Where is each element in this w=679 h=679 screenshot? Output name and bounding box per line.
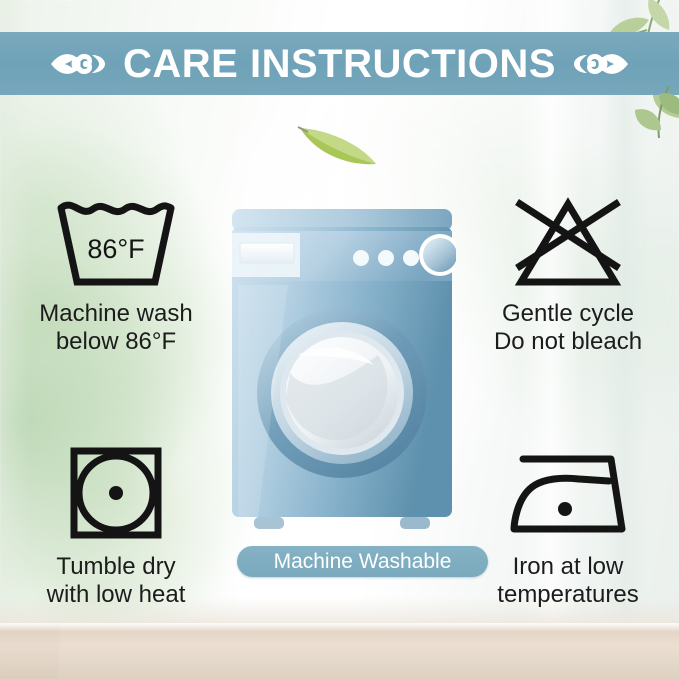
floating-leaf-icon (296, 118, 382, 172)
table-edge-highlight (0, 623, 679, 631)
fleur-de-lis-icon-left (49, 43, 107, 85)
wash-tub-icon: 86°F (6, 190, 226, 294)
badge-label: Machine Washable (274, 551, 452, 572)
care-item-do-not-bleach: Gentle cycle Do not bleach (458, 190, 678, 357)
care-item-iron: Iron at low temperatures (458, 443, 678, 610)
tumble-dry-square-circle-icon (6, 443, 226, 547)
care-label-do-not-bleach: Gentle cycle Do not bleach (458, 300, 678, 357)
washing-machine-illustration (228, 205, 456, 535)
iron-icon (458, 443, 678, 547)
care-label-machine-wash: Machine wash below 86°F (6, 300, 226, 357)
page-title: CARE INSTRUCTIONS (123, 44, 556, 84)
care-instructions-infographic: CARE INSTRUCTIONS (0, 0, 679, 679)
header-banner: CARE INSTRUCTIONS (0, 32, 679, 95)
care-label-tumble-dry: Tumble dry with low heat (6, 553, 226, 610)
triangle-crossed-out-icon (458, 190, 678, 294)
care-label-iron: Iron at low temperatures (458, 553, 678, 610)
wooden-table-surface (0, 623, 679, 679)
indicator-dot (353, 250, 369, 266)
indicator-dot (378, 250, 394, 266)
fleur-de-lis-icon-right (572, 43, 630, 85)
indicator-dot (403, 250, 419, 266)
care-item-tumble-dry: Tumble dry with low heat (6, 443, 226, 610)
machine-washable-badge: Machine Washable (237, 546, 488, 577)
wash-temperature-value: 86°F (87, 234, 144, 264)
wood-grain (0, 623, 679, 679)
care-item-machine-wash: 86°F Machine wash below 86°F (6, 190, 226, 357)
